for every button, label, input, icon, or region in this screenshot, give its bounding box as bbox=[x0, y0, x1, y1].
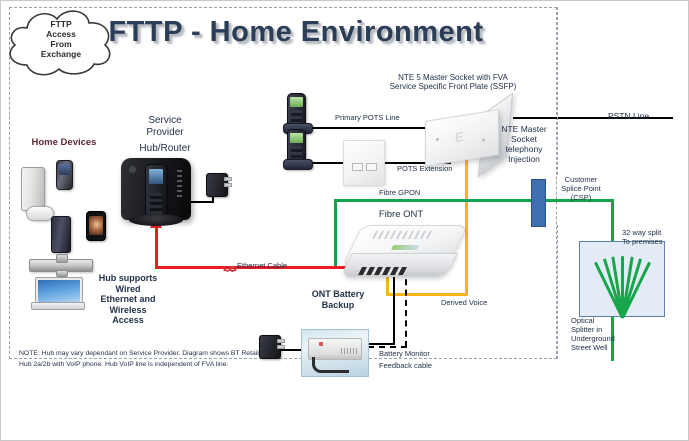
hub-router-label: Hub/Router bbox=[119, 143, 211, 155]
nte-injection-label: NTE Master Socket telephony Injection bbox=[493, 124, 555, 164]
optical-splitter bbox=[579, 241, 665, 317]
optical-splitter-label: Optical Splitter in Underground Street W… bbox=[571, 317, 631, 352]
fibre-ont-label: Fibre ONT bbox=[351, 209, 451, 220]
fttp-access-cloud: FTTP Access From Exchange bbox=[1, 1, 119, 79]
hub-logo-icon bbox=[129, 166, 136, 173]
csp-label: Customer Splice Point (CSP) bbox=[549, 176, 613, 203]
gamepad-icon bbox=[26, 206, 54, 221]
cable-derived-voice-h bbox=[386, 293, 468, 296]
customer-splice-point bbox=[531, 179, 546, 227]
pstn-line-label: PSTN Line bbox=[608, 111, 688, 121]
pots-extension-label: POTS Extension bbox=[397, 165, 487, 174]
fibre-ont bbox=[346, 223, 466, 291]
fttp-home-environment-diagram: FTTP - Home Environment bbox=[0, 0, 689, 441]
laptop-icon bbox=[31, 277, 83, 311]
smartphone-icon bbox=[86, 211, 106, 241]
battery-monitor-label: Battery Monitor bbox=[379, 350, 469, 359]
service-provider-hub[interactable] bbox=[121, 158, 191, 220]
primary-pots-label: Primary POTS Line bbox=[335, 114, 445, 123]
console-icon bbox=[21, 167, 45, 211]
service-provider-label: Service Provider bbox=[119, 115, 211, 139]
32-way-split-label: 32 way split To premises bbox=[622, 229, 688, 247]
soundbar-icon bbox=[29, 259, 93, 272]
ont-battery-backup-label: ONT Battery Backup bbox=[299, 289, 377, 310]
derived-voice-label: Derived Voice bbox=[441, 299, 511, 308]
premises-edge-upper bbox=[557, 7, 558, 175]
cable-fibre-gpon-left-v bbox=[334, 199, 337, 269]
cloud-label: FTTP Access From Exchange bbox=[31, 19, 91, 59]
cable-bbu-power-h bbox=[365, 343, 395, 345]
page-title: FTTP - Home Environment bbox=[61, 15, 531, 49]
feedback-cable-label: Feedback cable bbox=[379, 362, 469, 371]
nte5-title-label: NTE 5 Master Socket with FVA Service Spe… bbox=[353, 73, 553, 92]
premises-edge-lower bbox=[557, 225, 558, 359]
hub-base bbox=[129, 214, 183, 226]
cable-ethernet-v bbox=[155, 227, 158, 269]
cable-fibre-gpon-top bbox=[334, 199, 544, 202]
fibre-gpon-label: Fibre GPON bbox=[379, 189, 449, 198]
pc-tower-icon bbox=[51, 216, 71, 253]
hub-supports-label: Hub supports Wired Ethernet and Wireless… bbox=[87, 273, 169, 326]
pots-extension-faceplate bbox=[343, 140, 385, 186]
hub-led-strip bbox=[177, 170, 182, 200]
cordless-phone-extension bbox=[283, 129, 311, 171]
home-devices-label: Home Devices bbox=[9, 137, 119, 148]
mobile-phone-icon bbox=[56, 160, 73, 190]
ethernet-cable-icon bbox=[223, 265, 237, 273]
ethernet-cable-label: Ethernet Cable bbox=[237, 262, 327, 271]
hub-power-adapter-icon bbox=[206, 173, 228, 197]
note-text: NOTE: Hub may vary dependant on Service … bbox=[19, 349, 319, 370]
